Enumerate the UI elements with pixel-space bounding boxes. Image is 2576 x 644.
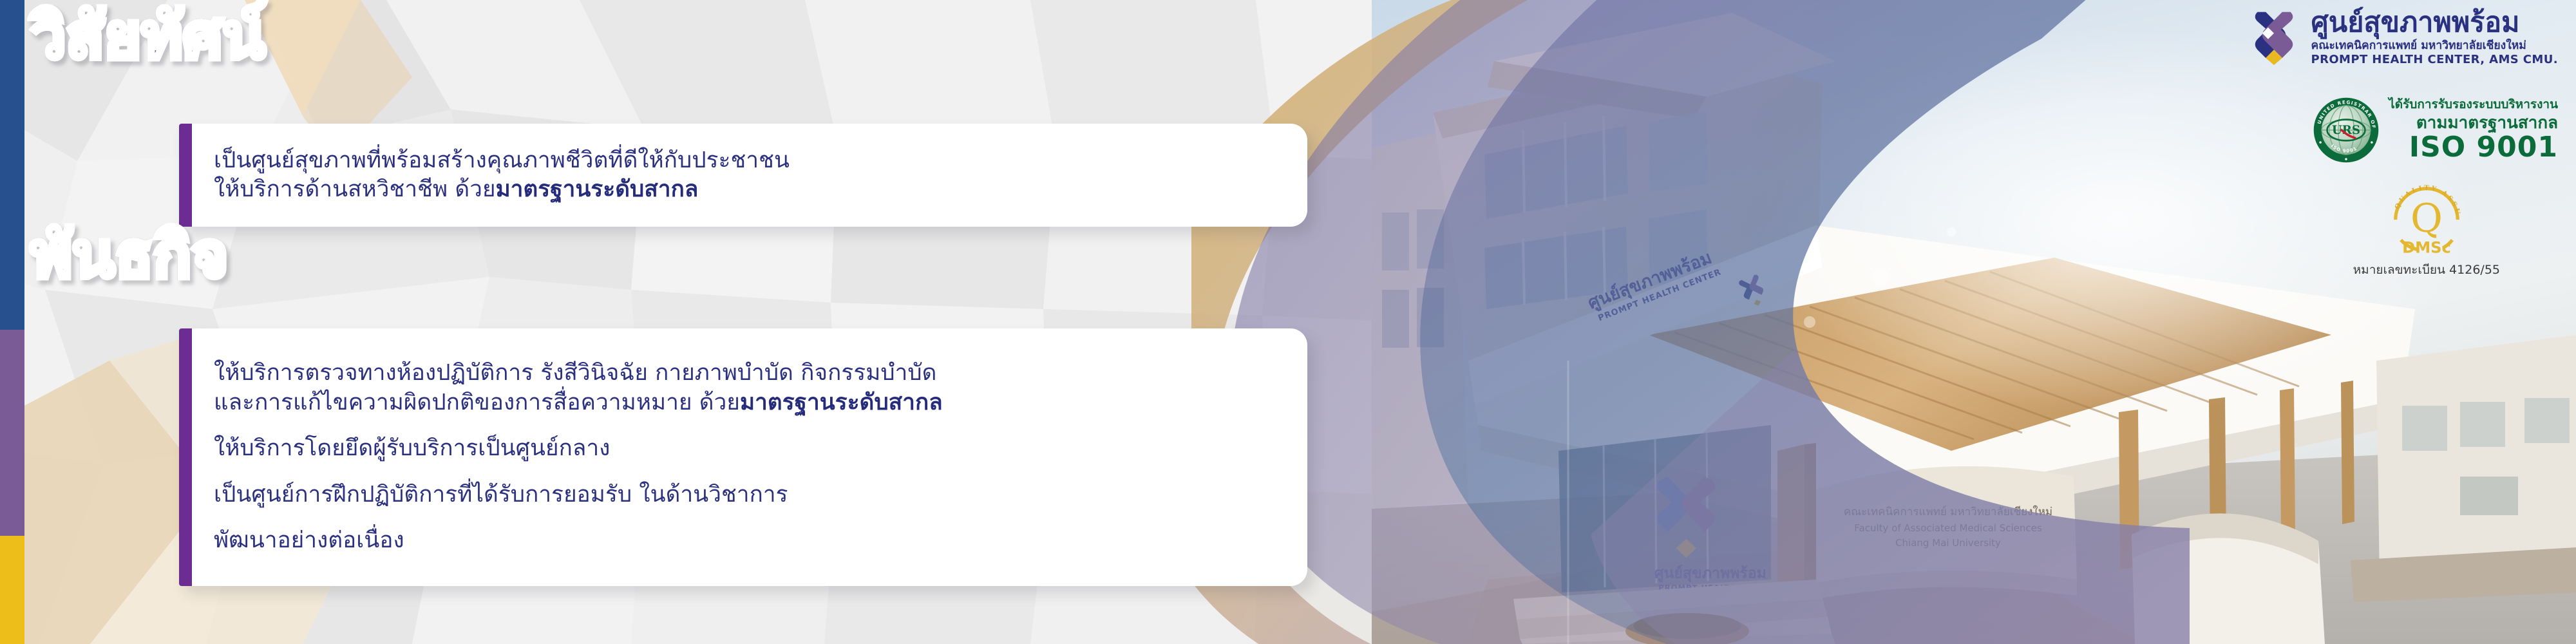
logo-mark-icon <box>2244 10 2304 65</box>
strip-segment-purple <box>0 330 24 536</box>
logo-title-th: ศูนย์สุขภาพพร้อม <box>2311 9 2559 37</box>
mission-line-3: ให้บริการโดยยึดผู้รับบริการเป็นศูนย์กลาง <box>214 434 1282 464</box>
mission-line-2: และการแก้ไขความผิดปกติของการสื่อความหมาย… <box>214 388 1282 418</box>
svg-text:DMSc: DMSc <box>2402 239 2451 257</box>
q-seal-icon: QUALITY ASSURANCE Q DMSc <box>2386 178 2467 259</box>
vision-line-2: ให้บริการด้านสหวิชาชีพ ด้วยมาตรฐานระดับส… <box>214 175 1282 205</box>
left-color-strip <box>0 0 24 644</box>
iso-line-1: ได้รับการรับรองระบบบริหารงาน <box>2389 99 2558 111</box>
mission-card-body: ให้บริการตรวจทางห้องปฏิบัติการ รังสีวินิ… <box>192 328 1307 586</box>
urs-seal-icon: UNITED REGISTRAR OF SYSTEMS ISO 9001 URS <box>2313 97 2380 164</box>
svg-text:Q: Q <box>2410 196 2443 241</box>
dmsc-registration-number: หมายเลขทะเบียน 4126/55 <box>2353 260 2500 279</box>
logo-text-block: ศูนย์สุขภาพพร้อม คณะเทคนิคการแพทย์ มหาวิ… <box>2311 9 2559 66</box>
prompt-health-center-logo: ศูนย์สุขภาพพร้อม คณะเทคนิคการแพทย์ มหาวิ… <box>2244 9 2559 66</box>
mission-card: ให้บริการตรวจทางห้องปฏิบัติการ รังสีวินิ… <box>179 328 1307 586</box>
mission-line-5: พัฒนาอย่างต่อเนื่อง <box>214 526 1282 556</box>
vision-card: เป็นศูนย์สุขภาพที่พร้อมสร้างคุณภาพชีวิตท… <box>179 124 1307 227</box>
logo-subtitle-th: คณะเทคนิคการแพทย์ มหาวิทยาลัยเชียงใหม่ <box>2311 41 2559 52</box>
vision-mission-banner: ศูนย์สุขภาพพร้อม PROMPT HEALTH CENTER <box>0 0 2576 644</box>
vision-card-accent-bar <box>179 124 192 227</box>
iso-line-3: ISO 9001 <box>2409 133 2558 162</box>
vision-line-1: เป็นศูนย์สุขภาพที่พร้อมสร้างคุณภาพชีวิตท… <box>214 146 1282 176</box>
svg-text:URS: URS <box>2332 124 2360 137</box>
mission-line-4: เป็นศูนย์การฝึกปฏิบัติการที่ได้รับการยอม… <box>214 480 1282 510</box>
iso-text-block: ได้รับการรับรองระบบบริหารงาน ตามมาตรฐานส… <box>2389 99 2558 162</box>
vision-card-body: เป็นศูนย์สุขภาพที่พร้อมสร้างคุณภาพชีวิตท… <box>192 124 1307 227</box>
mission-card-accent-bar <box>179 328 192 586</box>
logo-subtitle-en: PROMPT HEALTH CENTER, AMS CMU. <box>2311 54 2559 66</box>
dmsc-quality-badge: QUALITY ASSURANCE Q DMSc หมายเลขทะเบียน … <box>2353 178 2500 279</box>
iso-line-2: ตามมาตรฐานสากล <box>2416 115 2558 131</box>
iso-9001-badge: UNITED REGISTRAR OF SYSTEMS ISO 9001 URS… <box>2313 97 2558 164</box>
vision-heading: วิสัยทัศน์ <box>31 5 266 67</box>
strip-segment-blue <box>0 0 24 330</box>
mission-line-1: ให้บริการตรวจทางห้องปฏิบัติการ รังสีวินิ… <box>214 359 1282 388</box>
strip-segment-gold <box>0 536 24 644</box>
mission-heading: พันธกิจ <box>31 224 229 286</box>
